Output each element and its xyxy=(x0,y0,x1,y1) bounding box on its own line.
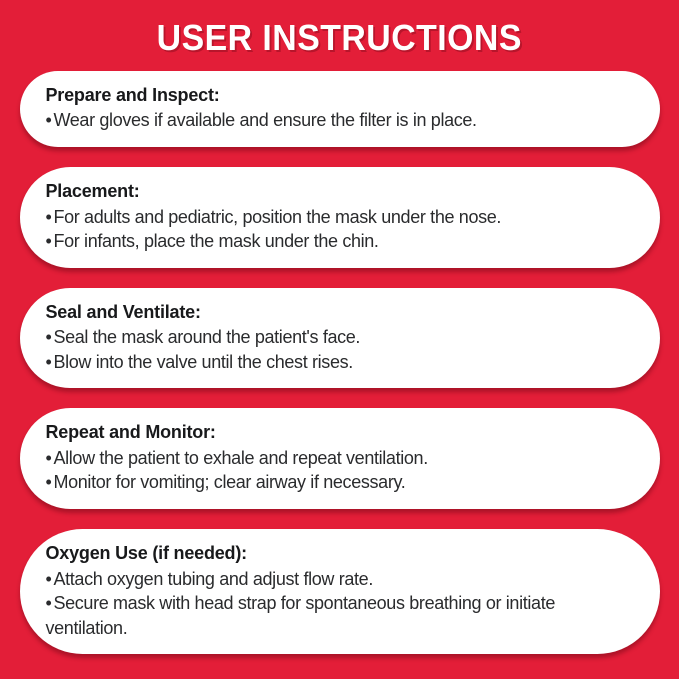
list-item-text: Wear gloves if available and ensure the … xyxy=(53,110,476,130)
list-item: •Attach oxygen tubing and adjust flow ra… xyxy=(46,567,634,591)
card-heading: Oxygen Use (if needed): xyxy=(46,542,634,566)
list-item: •For infants, place the mask under the c… xyxy=(46,229,634,253)
card-bullet-list: •Allow the patient to exhale and repeat … xyxy=(46,446,634,495)
instruction-card: Prepare and Inspect: •Wear gloves if ava… xyxy=(20,71,660,147)
card-heading: Seal and Ventilate: xyxy=(46,301,634,325)
list-item: •Wear gloves if available and ensure the… xyxy=(46,108,634,132)
card-heading: Placement: xyxy=(46,180,634,204)
bullet-icon: • xyxy=(46,591,52,615)
card-bullet-list: •Attach oxygen tubing and adjust flow ra… xyxy=(46,567,634,640)
list-item: •Allow the patient to exhale and repeat … xyxy=(46,446,634,470)
list-item: •Seal the mask around the patient's face… xyxy=(46,325,634,349)
card-bullet-list: •Wear gloves if available and ensure the… xyxy=(46,108,634,132)
instruction-card: Seal and Ventilate: •Seal the mask aroun… xyxy=(20,288,660,389)
instruction-card: Placement: •For adults and pediatric, po… xyxy=(20,167,660,268)
list-item: •Secure mask with head strap for spontan… xyxy=(46,591,634,640)
list-item-text: Monitor for vomiting; clear airway if ne… xyxy=(53,472,405,492)
list-item-text: Allow the patient to exhale and repeat v… xyxy=(53,448,427,468)
bullet-icon: • xyxy=(46,229,52,253)
list-item-text: For adults and pediatric, position the m… xyxy=(53,207,501,227)
instruction-card: Oxygen Use (if needed): •Attach oxygen t… xyxy=(20,529,660,654)
bullet-icon: • xyxy=(46,446,52,470)
list-item-text: Secure mask with head strap for spontane… xyxy=(46,593,556,637)
card-heading: Prepare and Inspect: xyxy=(46,84,634,108)
card-bullet-list: •For adults and pediatric, position the … xyxy=(46,205,634,254)
list-item-text: Seal the mask around the patient's face. xyxy=(53,327,360,347)
bullet-icon: • xyxy=(46,350,52,374)
list-item: •Blow into the valve until the chest ris… xyxy=(46,350,634,374)
list-item: •For adults and pediatric, position the … xyxy=(46,205,634,229)
instructions-poster: USER INSTRUCTIONS Prepare and Inspect: •… xyxy=(0,0,679,679)
instruction-card: Repeat and Monitor: •Allow the patient t… xyxy=(20,408,660,509)
bullet-icon: • xyxy=(46,567,52,591)
list-item-text: Attach oxygen tubing and adjust flow rat… xyxy=(53,569,373,589)
list-item-text: Blow into the valve until the chest rise… xyxy=(53,352,352,372)
list-item-text: For infants, place the mask under the ch… xyxy=(53,231,378,251)
bullet-icon: • xyxy=(46,470,52,494)
list-item: •Monitor for vomiting; clear airway if n… xyxy=(46,470,634,494)
card-heading: Repeat and Monitor: xyxy=(46,421,634,445)
bullet-icon: • xyxy=(46,108,52,132)
page-title: USER INSTRUCTIONS xyxy=(157,0,522,58)
bullet-icon: • xyxy=(46,325,52,349)
instruction-card-list: Prepare and Inspect: •Wear gloves if ava… xyxy=(20,71,660,654)
bullet-icon: • xyxy=(46,205,52,229)
card-bullet-list: •Seal the mask around the patient's face… xyxy=(46,325,634,374)
